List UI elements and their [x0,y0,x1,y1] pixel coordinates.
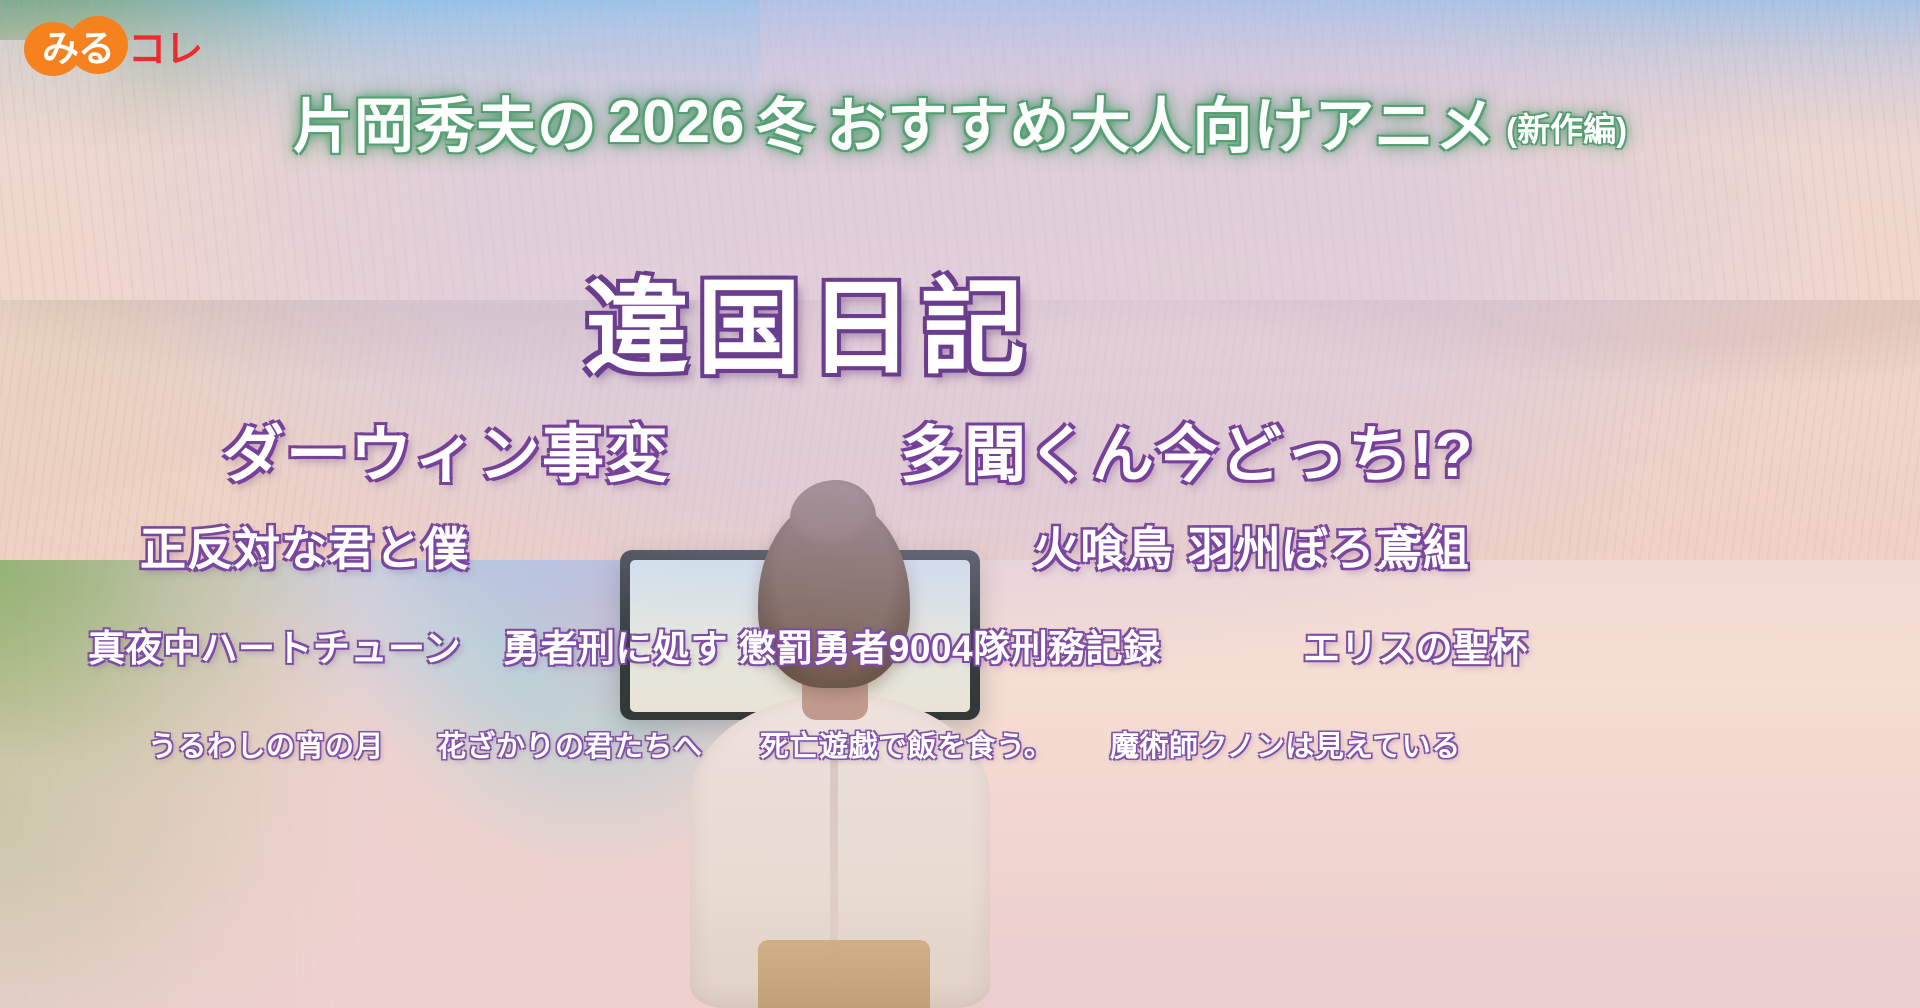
anime-title-item[interactable]: 火喰鳥 羽州ぼろ鳶組 [1033,513,1470,579]
anime-title-item[interactable]: 魔術師クノンは見えている [1110,723,1461,765]
anime-title-item[interactable]: 多聞くん今どっち!? [900,404,1475,494]
anime-title-item[interactable]: 違国日記 [585,243,1033,394]
banner-canvas: みる コレ 片岡秀夫の 2026 冬 おすすめ大人向けアニメ (新作編) 違国日… [0,0,1920,1008]
anime-title-item[interactable]: 真夜中ハートチューン [88,618,461,672]
anime-title-cloud: 違国日記 ダーウィン事変 多聞くん今どっち!? 正反対な君と僕 火喰鳥 羽州ぼろ… [0,0,1920,1008]
anime-title-item[interactable]: エリスの聖杯 [1303,618,1528,672]
anime-title-item[interactable]: 正反対な君と僕 [140,513,469,579]
anime-title-item[interactable]: 死亡遊戯で飯を食う。 [760,723,1053,765]
anime-title-item[interactable]: うるわしの宵の月 [148,723,384,765]
anime-title-item[interactable]: 勇者刑に処す 懲罰勇者9004隊刑務記録 [503,618,1161,672]
anime-title-item[interactable]: ダーウィン事変 [222,404,670,494]
anime-title-item[interactable]: 花ざかりの君たちへ [437,723,703,765]
